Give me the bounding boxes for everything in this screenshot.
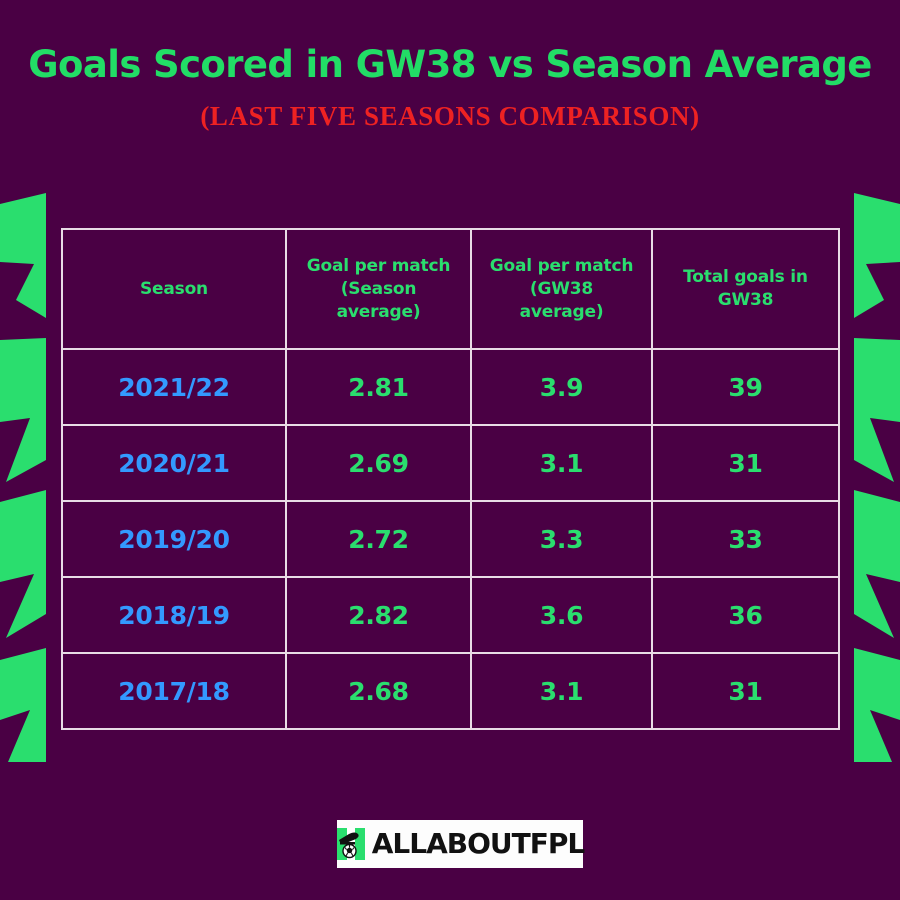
cell-total-goals-gw38: 39	[652, 349, 839, 425]
cell-goal-per-match-season: 2.69	[286, 425, 471, 501]
cell-goal-per-match-gw38: 3.1	[471, 425, 652, 501]
table-row: 2017/18 2.68 3.1 31	[62, 653, 839, 729]
column-header-goal-per-match-gw38-line-3: average)	[472, 301, 651, 324]
right-lightning-bolt-decoration	[852, 190, 900, 762]
left-lightning-bolt-decoration	[0, 190, 48, 762]
table-row: 2018/19 2.82 3.6 36	[62, 577, 839, 653]
infographic-canvas: Goals Scored in GW38 vs Season Average (…	[0, 0, 900, 900]
cell-goal-per-match-season: 2.81	[286, 349, 471, 425]
column-header-goal-per-match-season: Goal per match (Season average)	[286, 229, 471, 349]
brand-logo-text: ALLABOUTFPL	[372, 829, 585, 859]
cell-total-goals-gw38: 36	[652, 577, 839, 653]
table-row: 2021/22 2.81 3.9 39	[62, 349, 839, 425]
column-header-season-line-1: Season	[63, 278, 285, 301]
cell-goal-per-match-season: 2.82	[286, 577, 471, 653]
title-block: Goals Scored in GW38 vs Season Average (…	[0, 40, 900, 138]
table-body: 2021/22 2.81 3.9 39 2020/21 2.69 3.1 31 …	[62, 349, 839, 729]
column-header-goal-per-match-gw38-line-1: Goal per match	[472, 255, 651, 278]
table-row: 2019/20 2.72 3.3 33	[62, 501, 839, 577]
column-header-total-goals-gw38-line-2: GW38	[653, 289, 838, 312]
football-boot-and-ball-badge-icon	[336, 827, 366, 861]
cell-total-goals-gw38: 31	[652, 653, 839, 729]
cell-total-goals-gw38: 31	[652, 425, 839, 501]
lightning-bolt-icon	[852, 190, 900, 762]
column-header-total-goals-gw38: Total goals in GW38	[652, 229, 839, 349]
cell-goal-per-match-season: 2.68	[286, 653, 471, 729]
cell-goal-per-match-gw38: 3.3	[471, 501, 652, 577]
cell-season: 2021/22	[62, 349, 286, 425]
column-header-goal-per-match-gw38-line-2: (GW38	[472, 278, 651, 301]
column-header-goal-per-match-season-line-1: Goal per match	[287, 255, 470, 278]
cell-season: 2019/20	[62, 501, 286, 577]
cell-total-goals-gw38: 33	[652, 501, 839, 577]
column-header-goal-per-match-season-line-3: average)	[287, 301, 470, 324]
column-header-goal-per-match-gw38: Goal per match (GW38 average)	[471, 229, 652, 349]
table-header: Season Goal per match (Season average) G…	[62, 229, 839, 349]
column-header-season: Season	[62, 229, 286, 349]
page-title: Goals Scored in GW38 vs Season Average	[0, 40, 900, 90]
column-header-goal-per-match-season-line-2: (Season	[287, 278, 470, 301]
stats-table: Season Goal per match (Season average) G…	[61, 228, 840, 730]
cell-goal-per-match-season: 2.72	[286, 501, 471, 577]
lightning-bolt-icon	[0, 190, 48, 762]
cell-goal-per-match-gw38: 3.1	[471, 653, 652, 729]
table-header-row: Season Goal per match (Season average) G…	[62, 229, 839, 349]
cell-season: 2017/18	[62, 653, 286, 729]
table-row: 2020/21 2.69 3.1 31	[62, 425, 839, 501]
cell-goal-per-match-gw38: 3.9	[471, 349, 652, 425]
cell-goal-per-match-gw38: 3.6	[471, 577, 652, 653]
brand-logo: ALLABOUTFPL	[337, 820, 583, 868]
cell-season: 2020/21	[62, 425, 286, 501]
cell-season: 2018/19	[62, 577, 286, 653]
page-subtitle: (LAST FIVE SEASONS COMPARISON)	[0, 94, 900, 138]
badge-icon-graphic	[336, 827, 366, 861]
column-header-total-goals-gw38-line-1: Total goals in	[653, 266, 838, 289]
